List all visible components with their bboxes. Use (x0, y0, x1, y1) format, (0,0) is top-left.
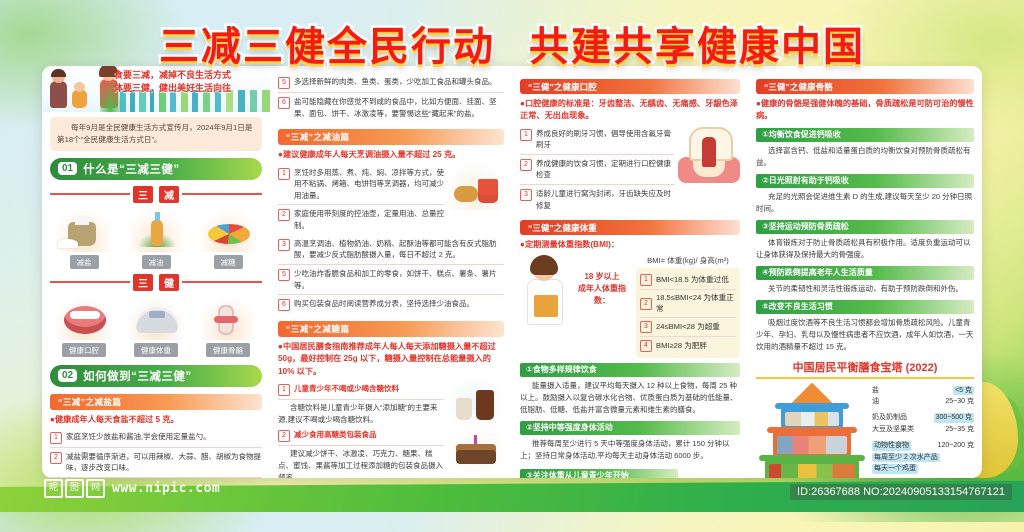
bmi-detail: BMI= 体重(kg)/ 身高(m²) 1 BMI<18.5 为体重过低 2 1… (636, 255, 740, 358)
poster-title-part1: 三减三健全民行动 (159, 25, 495, 69)
child-figure (72, 90, 87, 108)
item-number: 3 (640, 321, 652, 333)
item-text: 家庭使用带刻度的控油壶，定量用油、总量控制。 (294, 208, 444, 231)
three-reduce-char-2: 减 (159, 186, 179, 203)
bmi-formula: BMI= 体重(kg)/ 身高(m²) (636, 255, 740, 266)
list-item: 4 BMI≥28 为肥胖 (640, 337, 736, 355)
list-item: 1 儿童青少年不喝或少喝含糖饮料 (278, 380, 444, 400)
bone-advice-4-bar: ④预防跌倒提高老年人生活质量 (756, 266, 974, 280)
tier-food-dairy (785, 412, 839, 426)
bmi-age-note-line1: 18 岁以上 (573, 271, 631, 283)
bmi-block: 18 岁以上 成年人体重指数： BMI= 体重(kg)/ 身高(m²) 1 BM… (520, 255, 740, 358)
bone-section-heading: “三健”之健康骨骼 (756, 79, 974, 94)
bone-advice-3-bar: ③坚持运动预防骨质疏松 (756, 220, 974, 234)
watermark-char-1: 昵 (44, 479, 63, 498)
health-item-bone-label: 健康骨骼 (206, 343, 250, 357)
sugar-item-2-body: 建议减少饼干、冰激凌、巧克力、糖果、糕点、蜜饯、果酱等加工过程添加糖的包装食品摄… (278, 448, 444, 478)
oral-items-with-picture: 1 养成良好的刷牙习惯，倡导使用含氟牙膏刷牙 2 养成健康的饮食习惯，定期进行口… (520, 125, 740, 215)
salt-item-list: 1 家庭烹饪少放盐和酱油,学会使用定量盐勺。 2 减盐需要循序渐进，可以用辣椒、… (50, 428, 262, 478)
weight-lead-text: ●定期测量体重指数(BMI)： (520, 239, 740, 251)
list-item: 2 养成健康的饮食习惯，定期进行口腔健康检查 (520, 155, 674, 185)
oil-lead-text: ●建议健康成年人每天烹调油摄入量不超过 25 克。 (278, 149, 504, 161)
list-item: 2 18.5≤BMI<24 为体重正常 (640, 290, 736, 318)
sugar-item-2-title: 减少食用高糖类包装食品 (294, 430, 377, 439)
list-item: 2 减少食用高糖类包装食品 (278, 426, 444, 446)
legend-row: 动物性食物 120~200 克 (872, 440, 974, 451)
hero-slogan-line2: 体要三健，健出美好生活向往 (114, 82, 266, 95)
item-number: 1 (278, 384, 290, 396)
tooth-icon (678, 125, 740, 183)
item-text: 少吃油炸香脆食品和加工的零食，如饼干、糕点、薯条、薯片等。 (294, 268, 504, 291)
bone-advice-2-text: 充足的光照会促进维生素 D 的生成,建议每天至少 20 分钟日照时间。 (756, 191, 974, 215)
section-02-header: 02 如何做到“三减三健” (50, 365, 262, 387)
food-pagoda-diagram: 盐 <5 克 油 25~30 克 奶及奶制品 300~500 克 大豆及坚果类 … (756, 383, 974, 478)
bmi-age-note: 18 岁以上 成年人体重指数： (573, 255, 631, 307)
section-02-number: 02 (58, 369, 77, 382)
legend-name: 油 (872, 397, 879, 406)
candy-plate-icon (196, 208, 260, 252)
health-item-oral-label: 健康口腔 (62, 343, 106, 357)
list-item: 1 烹饪时多用蒸、煮、炖、焖、凉拌等方式，使用不粘锅、烤箱、电饼铛等烹调器，均可… (278, 164, 444, 206)
divider-line-left-2 (50, 281, 130, 283)
weight-advice-1-text: 能量摄入适量，建议平均每天摄入 12 种以上食物，每周 25 种以上。鼓励摄入以… (520, 380, 740, 416)
legend-row: 油 25~30 克 (872, 396, 974, 407)
item-text: 家庭烹饪少放盐和酱油,学会使用定量盐勺。 (66, 431, 211, 444)
bmi-age-note-line2: 成年人体重指数： (573, 283, 631, 307)
oil-items-with-picture: 1 烹饪时多用蒸、煮、炖、焖、凉拌等方式，使用不粘锅、烤箱、电饼铛等烹调器，均可… (278, 164, 504, 235)
list-item: 1 BMI<18.5 为体重过低 (640, 271, 736, 290)
legend-row: 盐 <5 克 (872, 385, 974, 396)
sugar-item-2: 2 减少食用高糖类包装食品 建议减少饼干、冰激凌、巧克力、糖果、糕点、蜜饯、果酱… (278, 426, 504, 478)
sugar-section-heading: “三减”之减糖篇 (278, 321, 504, 337)
pagoda-tiers (756, 383, 868, 478)
cake-icon (448, 426, 504, 472)
column-four: “三健”之健康骨骼 ●健康的骨骼是强健体魄的基础，骨质疏松是可防可治的慢性病。 … (748, 66, 982, 478)
sugar-item-1-title: 儿童青少年不喝或少喝含糖饮料 (294, 384, 399, 393)
reduce-item-salt: 减盐 (52, 208, 116, 270)
cola-drink-icon (448, 380, 504, 426)
fried-chicken-fries-icon (448, 164, 504, 210)
health-item-bone: 健康骨骼 (196, 296, 260, 358)
watermark-char-2: 图 (65, 479, 84, 498)
oil-bottle-icon (124, 208, 188, 252)
reduce-item-sugar: 减糖 (196, 208, 260, 270)
salt-lead-text: ●健康成年人每天食盐不超过 5 克。 (50, 414, 262, 426)
reduce-item-salt-label: 减盐 (70, 255, 99, 269)
health-icon-row: 健康口腔 健康体重 健康骨骼 (50, 296, 262, 358)
tooth-pulp-shape (702, 137, 716, 167)
three-health-label: 三 健 (50, 274, 262, 291)
watermark-url: www.nipic.com (112, 481, 220, 496)
list-item: 3 24≤BMI<28 为超重 (640, 318, 736, 337)
item-number: 1 (640, 274, 652, 286)
divider-line-left (50, 193, 130, 195)
site-watermark: 昵 图 网 www.nipic.com (44, 479, 220, 498)
salt-sack-icon (52, 208, 116, 252)
legend-row: 每天一个鸡蛋 (872, 463, 974, 474)
legend-name: 盐 (872, 386, 879, 395)
bone-advice-5-bar: ⑤改变不良生活习惯 (756, 300, 974, 314)
item-text: 盐可能隐藏在你感觉不到咸的食品中，比如方便面、挂面、坚果、面包、饼干、冰激凌等，… (294, 96, 504, 119)
weight-advice-3-bar: ③关注体重从儿童青少年开始 (520, 469, 678, 478)
weight-section-heading: “三健”之健康体重 (520, 220, 740, 235)
item-number: 1 (520, 129, 532, 141)
reduce-item-oil-label: 减油 (142, 255, 171, 269)
bone-shape (218, 305, 234, 335)
candy-shape (208, 224, 250, 244)
list-item: 3 高温烹调油、植物奶油、奶精、起酥油等都可能含有反式脂肪酸，要减少反式脂肪酸摄… (278, 235, 504, 265)
weight-advice-2-text: 推荐每周至少进行 5 天中等强度身体活动，累计 150 分钟以上；坚持日常身体活… (520, 438, 740, 462)
item-number: 6 (278, 299, 290, 311)
poster-title-area: 三减三健全民行动共建共享健康中国 (0, 14, 1024, 72)
list-item: 2 家庭使用带刻度的控油壶，定量用油、总量控制。 (278, 205, 444, 234)
salt-pile-shape (58, 239, 78, 248)
list-item: 3 适龄儿童进行窝沟封闭，牙齿缺失应及时修复 (520, 185, 674, 214)
legend-value: 120~200 克 (938, 441, 974, 450)
legend-value: 25~30 克 (945, 397, 974, 406)
image-id-tag: ID:26367688 NO:20240905133154767121 (790, 484, 1012, 500)
list-item: 5 少吃油炸香脆食品和加工的零食，如饼干、糕点、薯条、薯片等。 (278, 265, 504, 295)
three-reduce-char-1: 三 (133, 186, 153, 203)
scale-shape (136, 307, 178, 333)
bone-advice-3-text: 体育锻炼对于防止骨质疏松具有积极作用。适度负重运动可以让身体获得及保持最大的骨强… (756, 237, 974, 261)
child-head (74, 82, 85, 92)
bone-lead-text: ●健康的骨骼是强健体魄的基础，骨质疏松是可防可治的慢性病。 (756, 98, 974, 123)
hero-banner: 食要三减，减掉不良生活方式 体要三健，健出美好生活向往 (42, 66, 270, 112)
item-number: 1 (50, 432, 62, 444)
list-item: 5 多选择新鲜的肉类、鱼类、蛋类，少吃加工食品和罐头食品。 (278, 73, 504, 93)
item-title: 减少食用高糖类包装食品 (294, 429, 377, 442)
item-number: 2 (520, 159, 532, 171)
item-number: 3 (520, 189, 532, 201)
hero-slogan: 食要三减，减掉不良生活方式 体要三健，健出美好生活向往 (114, 69, 266, 95)
section-01-title: 什么是“三减三健” (83, 161, 180, 177)
item-text: 多选择新鲜的肉类、鱼类、蛋类，少吃加工食品和罐头食品。 (294, 76, 497, 89)
item-number: 2 (50, 452, 62, 464)
three-reduce-label: 三 减 (50, 186, 262, 203)
legend-value: 25~35 克 (945, 425, 974, 434)
legend-name: 奶及奶制品 (872, 413, 907, 422)
item-text: 养成良好的刷牙习惯，倡导使用含氟牙膏刷牙 (536, 128, 674, 151)
section-02-title: 如何做到“三减三健” (83, 368, 192, 384)
item-text: 18.5≤BMI<24 为体重正常 (656, 292, 736, 314)
item-number: 2 (278, 430, 290, 442)
column-three: “三健”之健康口腔 ●口腔健康的标准是：牙齿整洁、无龋齿、无痛感、牙龈色泽正常、… (512, 66, 748, 478)
list-item: 1 养成良好的刷牙习惯，倡导使用含氟牙膏刷牙 (520, 125, 674, 155)
pagoda-title: 中国居民平衡膳食宝塔 (2022) (756, 359, 974, 379)
father-figure (50, 81, 67, 108)
oil-item-list: 1 烹饪时多用蒸、煮、炖、焖、凉拌等方式，使用不粘锅、烤箱、电饼铛等烹调器，均可… (278, 164, 444, 235)
list-item: 6 盐可能隐藏在你感觉不到咸的食品中，比如方便面、挂面、坚果、面包、饼干、冰激凌… (278, 93, 504, 122)
item-text: BMI≥28 为肥胖 (656, 340, 707, 351)
reduce-icon-row: 减盐 减油 减糖 (50, 208, 262, 270)
three-health-char-1: 三 (133, 274, 153, 291)
health-item-weight: 健康体重 (124, 296, 188, 358)
bone-advice-1-text: 选择富含钙、低盐和适量蛋白质的均衡饮食对预防骨质疏松有益。 (756, 145, 974, 169)
pagoda-tier-animal-foods (773, 431, 851, 457)
legend-name: 大豆及坚果类 (872, 425, 914, 434)
mouth-icon (52, 296, 116, 340)
column-one: 食要三减，减掉不良生活方式 体要三健，健出美好生活向往 每年9月是全民健康生活方… (42, 66, 270, 478)
legend-row: 奶及奶制品 300~500 克 (872, 412, 974, 423)
item-number: 5 (278, 77, 290, 89)
sugar-item-2-text: 2 减少食用高糖类包装食品 建议减少饼干、冰激凌、巧克力、糖果、糕点、蜜饯、果酱… (278, 426, 444, 478)
oral-items-text: 1 养成良好的刷牙习惯，倡导使用含氟牙膏刷牙 2 养成健康的饮食习惯，定期进行口… (520, 125, 674, 215)
bone-advice-4-text: 关节的柔韧性和灵活性锻炼运动，有助于预防跌倒和外伤。 (756, 283, 974, 295)
section-01-number: 01 (58, 162, 77, 175)
item-number: 5 (278, 269, 290, 281)
oil-item-list-continued: 3 高温烹调油、植物奶油、奶精、起酥油等都可能含有反式脂肪酸，要减少反式脂肪酸摄… (278, 235, 504, 315)
three-health-char-2: 健 (159, 274, 179, 291)
item-number: 2 (278, 209, 290, 221)
oil-section-heading: “三减”之减油篇 (278, 129, 504, 145)
list-item: 6 购买包装食品时阅读营养成分表，坚持选择少油食品。 (278, 295, 504, 314)
item-text: 适龄儿童进行窝沟封闭，牙齿缺失应及时修复 (536, 188, 674, 211)
item-text: BMI<18.5 为体重过低 (656, 274, 729, 285)
column-two: 5 多选择新鲜的肉类、鱼类、蛋类，少吃加工食品和罐头食品。 6 盐可能隐藏在你感… (270, 66, 512, 478)
health-item-weight-label: 健康体重 (134, 343, 178, 357)
item-text: 养成健康的饮食习惯，定期进行口腔健康检查 (536, 158, 674, 181)
bone-advice-5-text: 吸烟过度饮酒等不良生活习惯都会增加骨质疏松风险。儿童青少年、孕妇、乳母以及慢性病… (756, 317, 974, 353)
watermark-char-3: 网 (86, 479, 105, 498)
weight-scale-icon (124, 296, 188, 340)
watermark-logo-icon: 昵 图 网 (44, 479, 105, 498)
salt-section-heading: “三减”之减盐篇 (50, 394, 262, 410)
divider-line-right-2 (182, 281, 262, 283)
legend-row: 每周至少 2 次水产品 (872, 452, 974, 463)
bone-joint-icon (196, 296, 260, 340)
list-item: 2 减盐需要循序渐进，可以用辣椒、大蒜、醋、胡椒为食物提味，逐步改变口味。 (50, 448, 262, 478)
legend-value: 300~500 克 (934, 413, 974, 422)
salt-item-list-continued: 5 多选择新鲜的肉类、鱼类、蛋类，少吃加工食品和罐头食品。 6 盐可能隐藏在你感… (278, 73, 504, 122)
doctor-clipboard (534, 295, 558, 317)
poster-title-part2: 共建共享健康中国 (529, 25, 865, 69)
item-text: 购买包装食品时阅读营养成分表，坚持选择少油食品。 (294, 298, 474, 311)
sugar-item-1: 1 儿童青少年不喝或少喝含糖饮料 含糖饮料是儿童青少年摄入“添加糖”的主要来源,… (278, 380, 504, 426)
legend-name: 每天一个鸡蛋 (872, 464, 918, 473)
item-text: 烹饪时多用蒸、煮、炖、焖、凉拌等方式，使用不粘锅、烤箱、电饼铛等烹调器，均可减少… (294, 167, 444, 202)
pagoda-tier-top-salt-oil (790, 383, 834, 405)
reduce-item-oil: 减油 (124, 208, 188, 270)
sugar-item-1-text: 1 儿童青少年不喝或少喝含糖饮料 含糖饮料是儿童青少年摄入“添加糖”的主要来源,… (278, 380, 444, 426)
weight-advice-with-runner: ③关注体重从儿童青少年开始 儿童应注意平衡膳食，增加体力活动和运动锻炼时间。 ④… (520, 464, 740, 478)
section-01-header: 01 什么是“三减三健” (50, 158, 262, 180)
doctor-illustration-icon (520, 255, 568, 331)
legend-name: 动物性食物 (872, 441, 911, 450)
item-text: 高温烹调油、植物奶油、奶精、起酥油等都可能含有反式脂肪酸，要减少反式脂肪酸摄入量… (294, 238, 504, 261)
item-text: 24≤BMI<28 为超重 (656, 321, 720, 332)
pagoda-tier-vegetables-fruits (765, 459, 859, 478)
health-item-oral: 健康口腔 (52, 296, 116, 358)
weight-advice-2-bar: ②坚持中等强度身体活动 (520, 421, 740, 435)
oil-items-text: 1 烹饪时多用蒸、煮、炖、焖、凉拌等方式，使用不粘锅、烤箱、电饼铛等烹调器，均可… (278, 164, 444, 235)
legend-spacer (872, 475, 974, 478)
pagoda-tier-dairy-nuts (781, 407, 843, 429)
mouth-shape (64, 306, 106, 334)
reduce-item-sugar-label: 减糖 (214, 255, 243, 269)
legend-name: 每周至少 2 次水产品 (872, 453, 940, 462)
sugar-lead-text: ●中国居民膳食指南推荐成年人每人每天添加糖摄入量不超过 50g，最好控制在 25… (278, 341, 504, 378)
item-text: 减盐需要循序渐进，可以用辣椒、大蒜、醋、胡椒为食物提味，逐步改变口味。 (66, 451, 262, 474)
legend-row: 大豆及坚果类 25~35 克 (872, 424, 974, 435)
item-number: 2 (640, 298, 652, 310)
tier-food-produce (769, 464, 855, 478)
oral-item-list: 1 养成良好的刷牙习惯，倡导使用含氟牙膏刷牙 2 养成健康的饮食习惯，定期进行口… (520, 125, 674, 215)
notice-box: 每年9月是全民健康生活方式宣传月，2024年9月1日是第18个“全民健康生活方式… (50, 117, 262, 151)
weight-advice-1-bar: ①食物多样规律饮食 (520, 363, 740, 377)
content-card: 食要三减，减掉不良生活方式 体要三健，健出美好生活向往 每年9月是全民健康生活方… (42, 66, 982, 478)
item-number: 1 (278, 168, 290, 180)
bmi-category-list: 1 BMI<18.5 为体重过低 2 18.5≤BMI<24 为体重正常 3 2… (636, 268, 740, 358)
tier-food-animal (777, 436, 847, 454)
weight-advice-remaining: ③关注体重从儿童青少年开始 儿童应注意平衡膳食，增加体力活动和运动锻炼时间。 ④… (520, 464, 678, 478)
doctor-hair (530, 255, 558, 275)
list-item: 1 家庭烹饪少放盐和酱油,学会使用定量盐勺。 (50, 428, 262, 448)
poster-title: 三减三健全民行动共建共享健康中国 (159, 14, 865, 72)
bone-advice-1-bar: ①均衡饮食促进钙吸收 (756, 128, 974, 142)
item-number: 6 (278, 97, 290, 109)
sugar-item-1-body: 含糖饮料是儿童青少年摄入“添加糖”的主要来源,建议不喝或少喝含糖饮料。 (278, 402, 444, 426)
pagoda-legend: 盐 <5 克 油 25~30 克 奶及奶制品 300~500 克 大豆及坚果类 … (872, 383, 974, 478)
legend-value: <5 克 (953, 386, 974, 395)
bone-advice-2-bar: ②日光照射有助于钙吸收 (756, 174, 974, 188)
oral-section-heading: “三健”之健康口腔 (520, 79, 740, 94)
item-number: 3 (278, 239, 290, 251)
bottle-shape (151, 220, 163, 246)
item-number: 4 (640, 340, 652, 352)
item-title: 儿童青少年不喝或少喝含糖饮料 (294, 383, 399, 396)
oral-lead-text: ●口腔健康的标准是：牙齿整洁、无龋齿、无痛感、牙龈色泽正常、无出血现象。 (520, 98, 740, 123)
divider-line-right (182, 193, 262, 195)
